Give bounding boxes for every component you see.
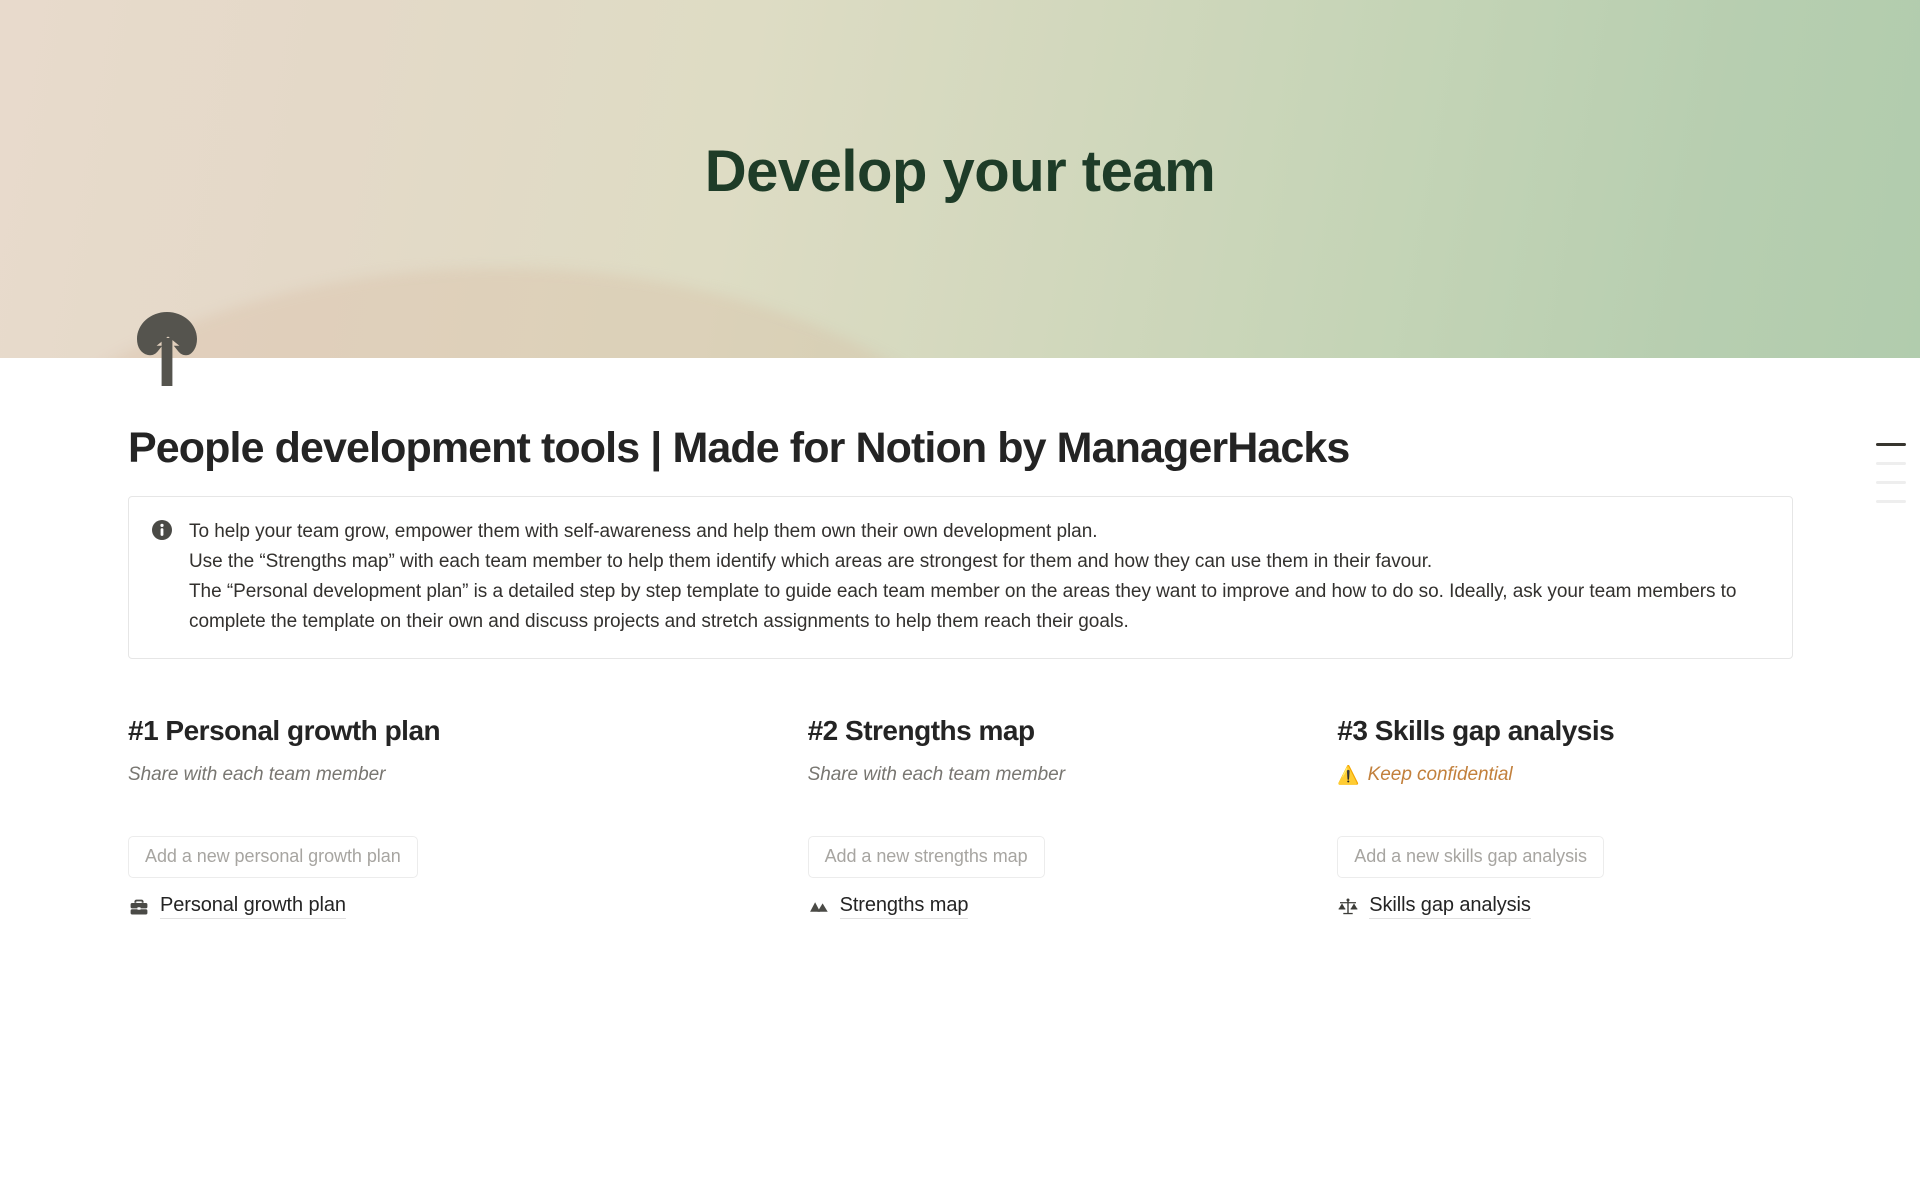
column-skills-gap-analysis: #3 Skills gap analysis ⚠️ Keep confident…: [1337, 713, 1792, 919]
columns-container: #1 Personal growth plan Share with each …: [128, 713, 1792, 919]
column-heading: #3 Skills gap analysis: [1337, 713, 1792, 748]
column-personal-growth-plan: #1 Personal growth plan Share with each …: [128, 713, 808, 919]
page-cover: Develop your team: [0, 0, 1920, 358]
column-heading: #1 Personal growth plan: [128, 713, 808, 748]
page-body: People development tools | Made for Noti…: [0, 424, 1920, 919]
column-strengths-map: #2 Strengths map Share with each team me…: [808, 713, 1338, 919]
column-subtitle: Share with each team member: [128, 764, 808, 786]
database-link-skills-gap-analysis[interactable]: Skills gap analysis: [1337, 894, 1792, 919]
callout-line-1: To help your team grow, empower them wit…: [189, 517, 1770, 547]
toc-mark[interactable]: [1876, 462, 1906, 465]
add-strengths-map-button[interactable]: Add a new strengths map: [808, 836, 1045, 878]
page-content: People development tools | Made for Noti…: [0, 424, 1920, 919]
column-heading: #2 Strengths map: [808, 713, 1338, 748]
add-personal-growth-plan-button[interactable]: Add a new personal growth plan: [128, 836, 418, 878]
toc-mark[interactable]: [1876, 500, 1906, 503]
column-subtitle-warning: ⚠️ Keep confidential: [1337, 764, 1792, 786]
mountain-icon: [808, 896, 830, 918]
tree-icon[interactable]: [128, 308, 206, 386]
database-label: Strengths map: [840, 894, 969, 919]
cover-title: Develop your team: [0, 138, 1920, 205]
info-icon: [151, 519, 173, 541]
add-skills-gap-analysis-button[interactable]: Add a new skills gap analysis: [1337, 836, 1604, 878]
scales-icon: [1337, 896, 1359, 918]
callout-line-3: The “Personal development plan” is a det…: [189, 577, 1770, 637]
table-of-contents-rail[interactable]: [1864, 443, 1906, 503]
info-callout: To help your team grow, empower them wit…: [128, 496, 1793, 659]
database-label: Skills gap analysis: [1369, 894, 1531, 919]
callout-line-2: Use the “Strengths map” with each team m…: [189, 547, 1770, 577]
callout-text: To help your team grow, empower them wit…: [189, 517, 1770, 637]
page-title: People development tools | Made for Noti…: [128, 424, 1792, 472]
toc-mark-active[interactable]: [1876, 443, 1906, 446]
warning-icon: ⚠️: [1337, 766, 1359, 784]
briefcase-icon: [128, 896, 150, 918]
database-link-personal-growth-plan[interactable]: Personal growth plan: [128, 894, 808, 919]
database-label: Personal growth plan: [160, 894, 346, 919]
column-subtitle: Keep confidential: [1368, 764, 1513, 786]
toc-mark[interactable]: [1876, 481, 1906, 484]
column-subtitle: Share with each team member: [808, 764, 1338, 786]
database-link-strengths-map[interactable]: Strengths map: [808, 894, 1338, 919]
